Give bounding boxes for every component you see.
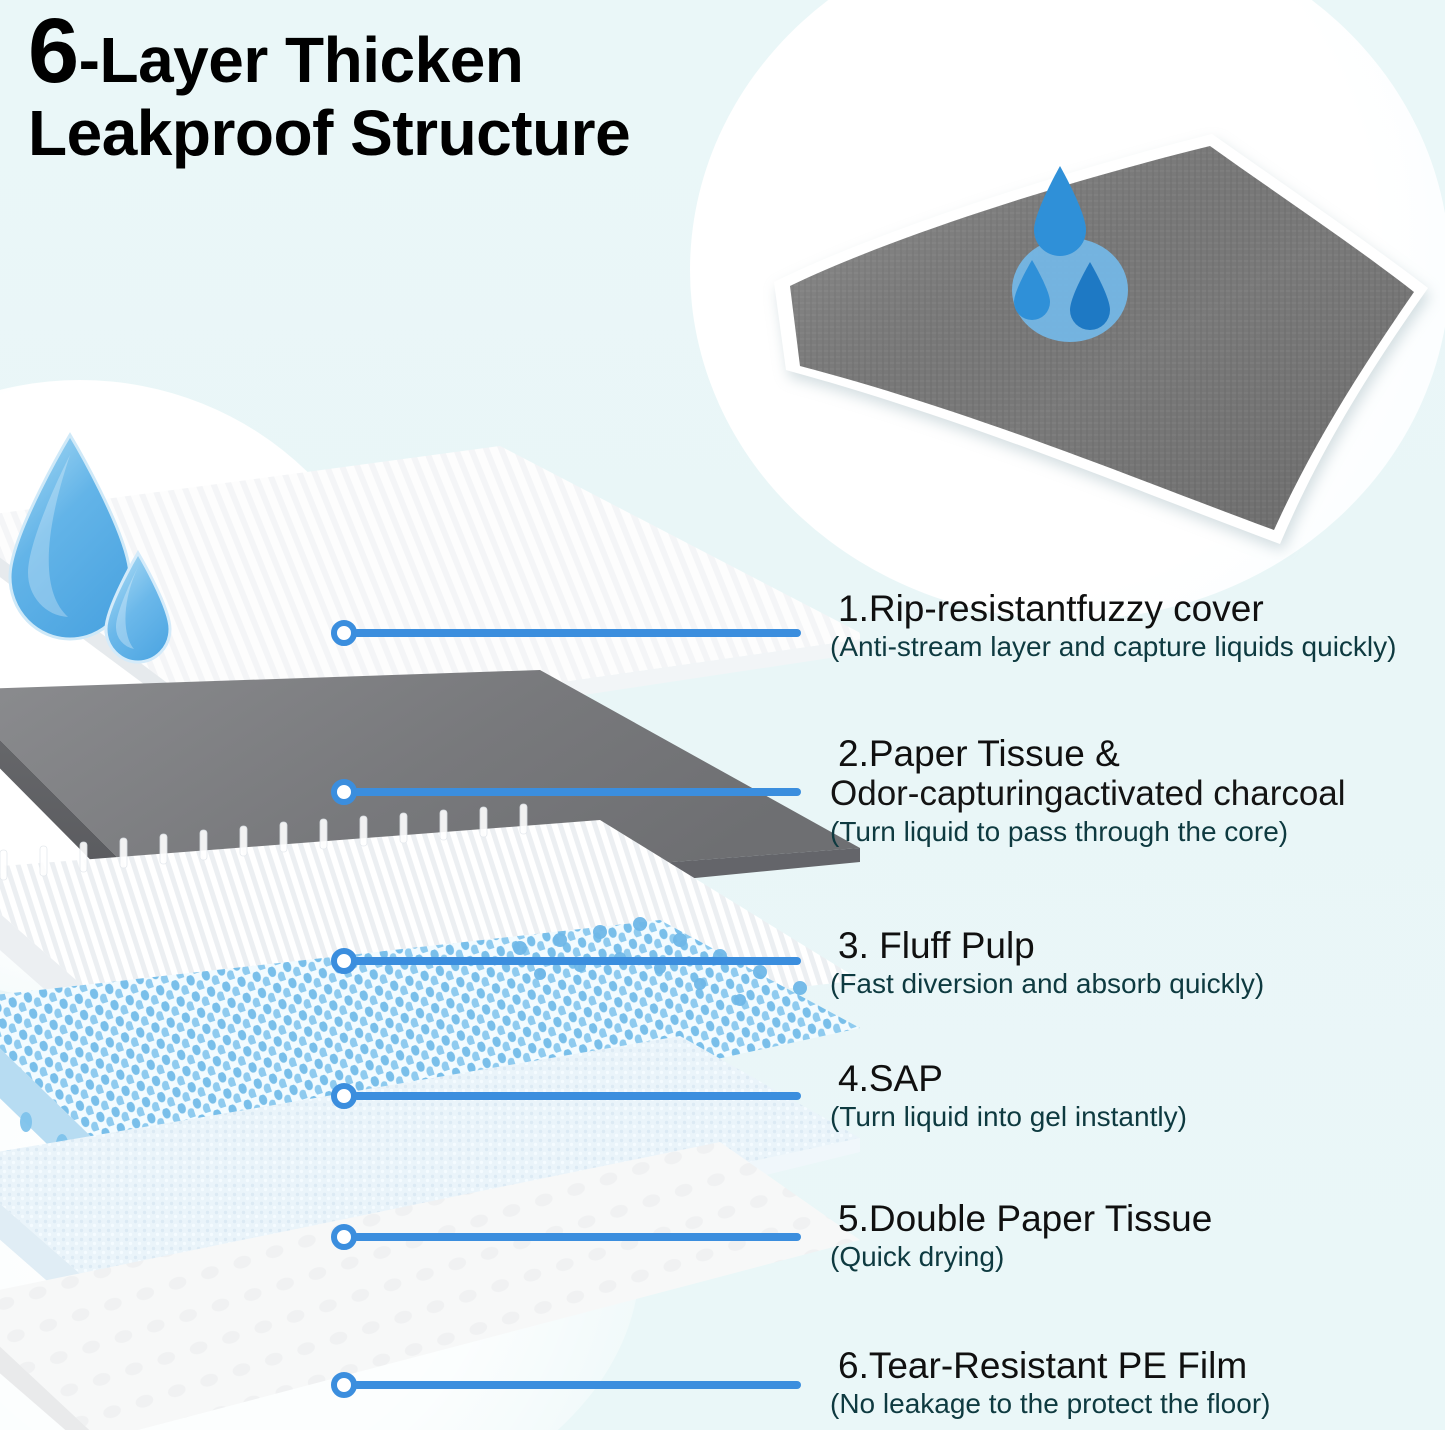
connector-line-3 [331,946,801,976]
layer-6-subtitle: (No leakage to the protect the floor) [830,1388,1270,1420]
layer-4-title: 4.SAP [838,1058,1187,1099]
layer-3-subtitle: (Fast diversion and absorb quickly) [830,968,1264,1000]
layer-2-title-line2: Odor-capturingactivated charcoal [830,774,1346,813]
layer-label-5: 5.Double Paper Tissue (Quick drying) [838,1198,1212,1274]
title-line1-rest: -Layer Thicken [79,24,524,96]
layer-4-subtitle: (Turn liquid into gel instantly) [830,1101,1187,1133]
connector-bar-1 [353,629,801,637]
connector-line-5 [331,1222,801,1252]
water-droplets-group [0,425,230,675]
layer-label-6: 6.Tear-Resistant PE Film (No leakage to … [838,1345,1270,1421]
layer-2-title: 2.Paper Tissue & [838,733,1346,774]
connector-bar-3 [353,957,801,965]
title-lead-number: 6 [28,0,79,102]
layer-label-1: 1.Rip-resistantfuzzy cover (Anti-stream … [838,588,1396,664]
layer-5-subtitle: (Quick drying) [830,1241,1212,1273]
layer-3-title: 3. Fluff Pulp [838,925,1264,966]
layer-2-subtitle: (Turn liquid to pass through the core) [830,816,1346,848]
infographic-canvas: 6-Layer Thicken Leakproof Structure [0,0,1445,1430]
connector-bar-6 [353,1381,801,1389]
layer-label-4: 4.SAP (Turn liquid into gel instantly) [838,1058,1187,1134]
connector-bar-5 [353,1233,801,1241]
layer-1-title: 1.Rip-resistantfuzzy cover [838,588,1396,629]
layer-6-title: 6.Tear-Resistant PE Film [838,1345,1270,1386]
page-title: 6-Layer Thicken Leakproof Structure [28,10,858,167]
title-line2: Leakproof Structure [28,101,858,166]
layer-label-3: 3. Fluff Pulp (Fast diversion and absorb… [838,925,1264,1001]
layer-5-title: 5.Double Paper Tissue [838,1198,1212,1239]
connector-bar-2 [353,788,801,796]
connector-line-2 [331,777,801,807]
connector-bar-4 [353,1092,801,1100]
connector-line-1 [331,618,801,648]
absorbent-pad-illustration [760,120,1440,560]
layer-1-subtitle: (Anti-stream layer and capture liquids q… [830,631,1396,663]
connector-line-4 [331,1081,801,1111]
layer-label-2: 2.Paper Tissue & Odor-capturingactivated… [838,733,1346,848]
connector-line-6 [331,1370,801,1400]
